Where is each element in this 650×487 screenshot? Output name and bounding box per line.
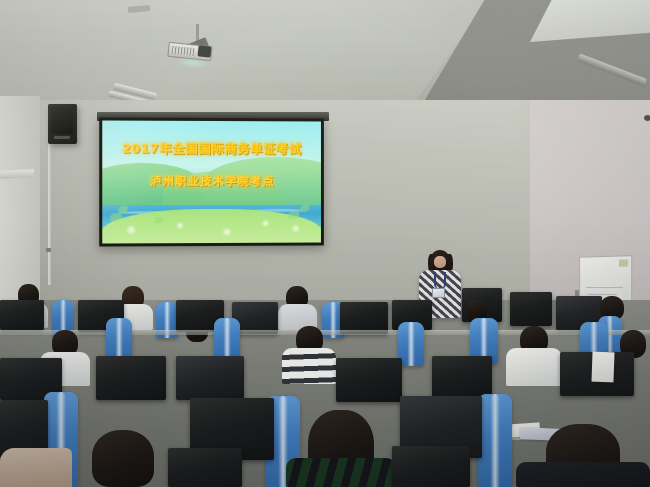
slide-subtitle: 泸州职业技术学院考点 bbox=[102, 173, 321, 189]
speaker-grille bbox=[51, 107, 73, 134]
monitor bbox=[168, 448, 242, 487]
slide-title: 2017年全国国际商务单证考试 bbox=[102, 138, 321, 158]
monitor bbox=[176, 356, 244, 400]
chair bbox=[478, 394, 512, 487]
whiteboard-note bbox=[619, 259, 628, 266]
projected-slide: 2017年全国国际商务单证考试 泸州职业技术学院考点 bbox=[102, 120, 321, 243]
cable-clip bbox=[46, 248, 51, 252]
monitor bbox=[392, 446, 470, 487]
student-body bbox=[286, 458, 396, 487]
screen-roller-knob bbox=[644, 115, 650, 121]
exam-paper bbox=[591, 352, 614, 383]
student-body bbox=[282, 348, 336, 384]
speaker-icon bbox=[48, 104, 77, 144]
monitor bbox=[96, 356, 166, 400]
id-badge bbox=[432, 288, 445, 298]
projector-lens bbox=[197, 45, 211, 57]
student-head bbox=[92, 430, 154, 487]
student-body bbox=[516, 462, 650, 487]
monitor bbox=[510, 292, 552, 326]
monitor bbox=[0, 300, 44, 330]
lanyard bbox=[434, 272, 446, 289]
student-arm bbox=[0, 448, 72, 487]
student-body bbox=[506, 348, 562, 386]
monitor bbox=[432, 356, 492, 398]
projection-screen: 2017年全国国际商务单证考试 泸州职业技术学院考点 bbox=[99, 117, 324, 246]
desk bbox=[0, 330, 650, 335]
classroom-photo: 2017年全国国际商务单证考试 泸州职业技术学院考点 bbox=[0, 0, 650, 487]
monitor bbox=[336, 358, 402, 402]
cable-conduit bbox=[48, 140, 51, 285]
speaker-label bbox=[54, 136, 70, 139]
proctor-face bbox=[434, 256, 446, 268]
